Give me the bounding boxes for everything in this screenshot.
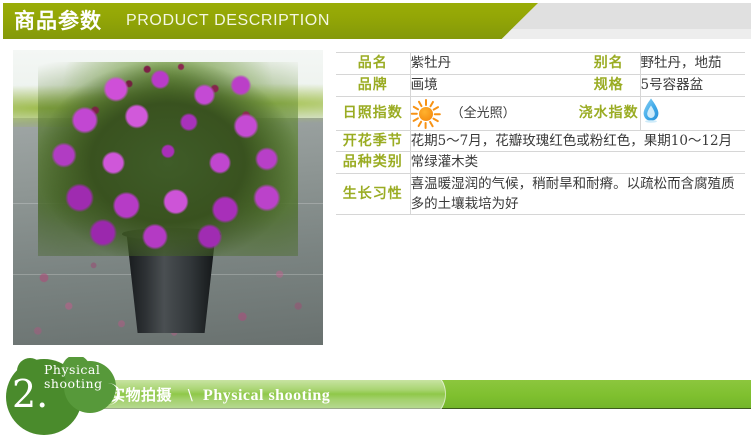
- table-row: 开花季节 花期5～7月，花瓣玫瑰红色或粉红色，果期10～12月: [336, 131, 745, 152]
- spec-label: 浇水指数: [578, 97, 640, 131]
- spec-label: 品种类别: [336, 152, 410, 174]
- spec-value: 常绿灌木类: [410, 152, 745, 174]
- spec-value: 5号容器盆: [640, 75, 745, 97]
- water-drop-icon: [641, 111, 661, 127]
- table-row: 品名 紫牡丹 别名 野牡丹，地茄: [336, 53, 745, 75]
- spec-label: 品名: [336, 53, 410, 75]
- spec-value-water: [640, 97, 745, 131]
- spec-label: 日照指数: [336, 97, 410, 131]
- footer-separator: \: [178, 386, 198, 404]
- step-label-line2: shooting: [44, 377, 103, 391]
- spec-label: 生长习性: [336, 174, 410, 215]
- spec-value: 花期5～7月，花瓣玫瑰红色或粉红色，果期10～12月: [410, 131, 745, 152]
- spec-label: 规格: [578, 75, 640, 97]
- product-photo: [13, 50, 323, 345]
- table-row: 品种类别 常绿灌木类: [336, 152, 745, 174]
- step-label-line1: Physical: [44, 363, 103, 377]
- table-row: 日照指数: [336, 97, 745, 131]
- spec-label: 别名: [578, 53, 640, 75]
- product-spec-table: 品名 紫牡丹 别名 野牡丹，地茄 品牌 画境 规格 5号容器盆 日照指数: [336, 52, 745, 215]
- footer-title-en: Physical shooting: [203, 387, 330, 404]
- spec-value: 画境: [410, 75, 578, 97]
- sunlight-note: （全光照）: [451, 103, 516, 124]
- page-title-cn: 商品参数: [14, 5, 102, 37]
- step-label-en: Physical shooting: [44, 363, 103, 391]
- section-header: 商品参数 PRODUCT DESCRIPTION: [0, 0, 751, 44]
- spec-label: 开花季节: [336, 131, 410, 152]
- photo-flowers: [38, 62, 298, 257]
- spec-value: 野牡丹，地茄: [640, 53, 745, 75]
- photo-plant: [38, 62, 298, 257]
- spec-value: 紫牡丹: [410, 53, 578, 75]
- footer-bar-title: 实物拍摄 \ Physical shooting: [110, 383, 330, 407]
- sun-icon: [411, 99, 441, 129]
- spec-value-sun: （全光照）: [410, 97, 578, 131]
- page-title-en: PRODUCT DESCRIPTION: [126, 9, 330, 33]
- product-description-page: 商品参数 PRODUCT DESCRIPTION 品名 紫牡丹 别名 野牡丹，地…: [0, 0, 751, 437]
- sun-core: [419, 107, 433, 121]
- blob-tail-stroke: [96, 383, 120, 405]
- table-row: 品牌 画境 规格 5号容器盆: [336, 75, 745, 97]
- spec-value: 喜温暖湿润的气候，稍耐旱和耐瘠。以疏松而含腐殖质多的土壤栽培为好: [410, 174, 745, 215]
- section-footer: 实物拍摄 \ Physical shooting 2. Physical sho…: [0, 355, 751, 437]
- table-row: 生长习性 喜温暖湿润的气候，稍耐旱和耐瘠。以疏松而含腐殖质多的土壤栽培为好: [336, 174, 745, 215]
- step-number: 2.: [12, 375, 48, 413]
- spec-label: 品牌: [336, 75, 410, 97]
